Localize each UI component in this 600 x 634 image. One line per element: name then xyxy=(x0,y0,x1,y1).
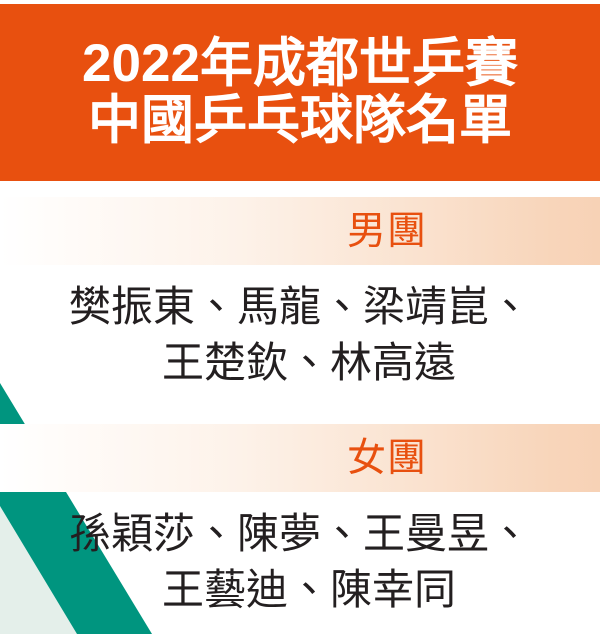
roster-line: 王楚欽、林高遠 xyxy=(0,335,600,391)
poster-title-banner: 2022年成都世乒賽 中國乒乓球隊名單 xyxy=(0,4,600,181)
roster-line: 樊振東、馬龍、梁靖崑、 xyxy=(0,279,600,335)
section-label-mens-team: 男團 xyxy=(347,212,427,251)
roster-mens-team: 樊振東、馬龍、梁靖崑、 王楚欽、林高遠 xyxy=(0,279,600,391)
roster-womens-team: 孫穎莎、陳夢、王曼昱、 王藝迪、陳幸同 xyxy=(0,506,600,618)
poster-title-line-2: 中國乒乓球隊名單 xyxy=(88,93,512,149)
roster-line: 王藝迪、陳幸同 xyxy=(0,562,600,618)
section-header-womens-team: 女團 xyxy=(0,424,600,492)
roster-line: 孫穎莎、陳夢、王曼昱、 xyxy=(0,506,600,562)
section-header-mens-team: 男團 xyxy=(0,197,600,265)
infographic-poster: 2022年成都世乒賽 中國乒乓球隊名單 男團 樊振東、馬龍、梁靖崑、 王楚欽、林… xyxy=(0,0,600,634)
poster-title-line-1: 2022年成都世乒賽 xyxy=(82,36,518,92)
section-label-womens-team: 女團 xyxy=(347,439,427,478)
